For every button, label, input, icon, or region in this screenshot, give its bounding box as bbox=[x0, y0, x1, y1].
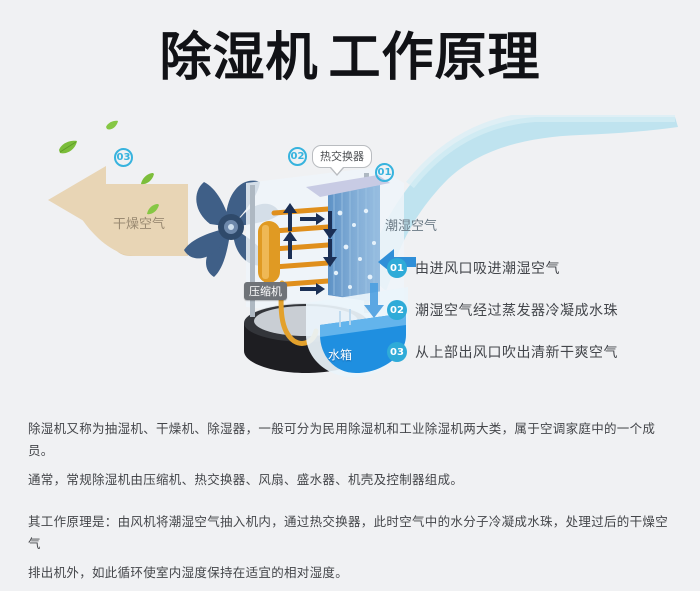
legend-list: 01 由进风口吸进潮湿空气 02 潮湿空气经过蒸发器冷凝成水珠 03 从上部出风… bbox=[388, 258, 688, 384]
description-block: 除湿机又称为抽湿机、干燥机、除湿器，一般可分为民用除湿机和工业除湿机两大类，属于… bbox=[28, 418, 678, 591]
humid-air-label: 潮湿空气 bbox=[385, 215, 437, 234]
list-item: 01 由进风口吸进潮湿空气 bbox=[388, 258, 688, 278]
legend-text-03: 从上部出风口吹出清新干爽空气 bbox=[415, 342, 618, 362]
diagram-badge-02: 02 bbox=[288, 147, 307, 166]
page-title: 除湿机工作原理 bbox=[0, 32, 700, 84]
infographic-page: 除湿机工作原理 bbox=[0, 0, 700, 566]
compressor-tag: 压缩机 bbox=[244, 282, 287, 300]
description-p1-line1: 除湿机又称为抽湿机、干燥机、除湿器，一般可分为民用除湿机和工业除湿机两大类，属于… bbox=[28, 418, 678, 462]
leaf-icon bbox=[140, 172, 155, 185]
legend-badge-01: 01 bbox=[388, 259, 406, 277]
legend-badge-03: 03 bbox=[388, 343, 406, 361]
dry-air-label: 干燥空气 bbox=[113, 213, 165, 232]
description-p2-line1: 其工作原理是：由风机将潮湿空气抽入机内，通过热交换器，此时空气中的水分子冷凝成水… bbox=[28, 511, 678, 555]
legend-text-02: 潮湿空气经过蒸发器冷凝成水珠 bbox=[415, 300, 618, 320]
list-item: 03 从上部出风口吹出清新干爽空气 bbox=[388, 342, 688, 362]
leaf-icon bbox=[58, 140, 78, 156]
description-p1-line2: 通常，常规除湿机由压缩机、热交换器、风扇、盛水器、机壳及控制器组成。 bbox=[28, 469, 678, 491]
leaf-icon bbox=[105, 120, 119, 132]
legend-text-01: 由进风口吸进潮湿空气 bbox=[415, 258, 560, 278]
heat-exchanger-callout: 热交换器 bbox=[312, 145, 372, 168]
title-part-2: 工作原理 bbox=[329, 28, 541, 88]
diagram-badge-01: 01 bbox=[375, 163, 394, 182]
water-tank-tag: 水箱 bbox=[328, 346, 352, 363]
legend-badge-02: 02 bbox=[388, 301, 406, 319]
diagram-badge-03: 03 bbox=[114, 148, 133, 167]
description-p2-line2: 排出机外，如此循环使室内湿度保持在适宜的相对湿度。 bbox=[28, 562, 678, 584]
title-part-1: 除湿机 bbox=[159, 28, 318, 88]
list-item: 02 潮湿空气经过蒸发器冷凝成水珠 bbox=[388, 300, 688, 320]
